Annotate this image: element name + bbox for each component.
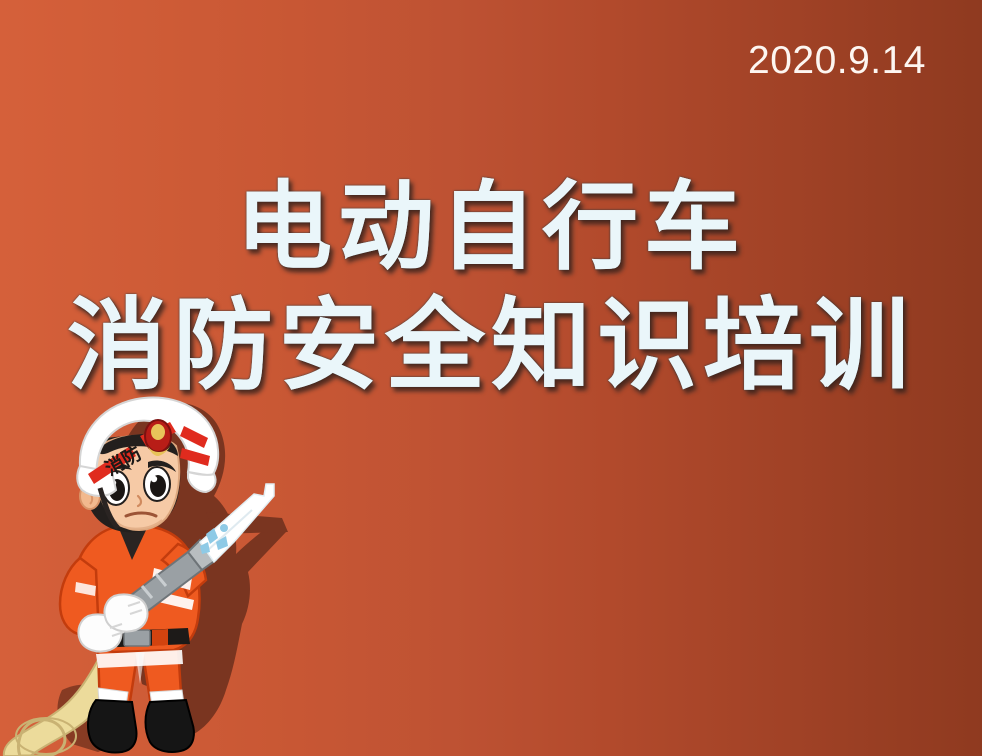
slide-root: 2020.9.14 电动自行车 电动自行车 消防安全知识培训 消防安全知识培训 <box>0 0 982 756</box>
title-line-1-outline: 电动自行车 <box>0 176 982 278</box>
firefighter-illustration: 消防 <box>2 392 332 756</box>
title-line-2-wrap: 消防安全知识培训 消防安全知识培训 <box>0 292 982 398</box>
firefighter-mascot: 消防 <box>2 392 332 756</box>
slide-title: 电动自行车 电动自行车 消防安全知识培训 消防安全知识培训 <box>0 176 982 398</box>
title-line-1-wrap: 电动自行车 电动自行车 <box>0 176 982 278</box>
title-line-1: 电动自行车 <box>0 176 982 278</box>
title-line-2: 消防安全知识培训 <box>0 292 982 398</box>
firefighter-boots <box>88 700 194 752</box>
slide-date: 2020.9.14 <box>748 41 926 80</box>
